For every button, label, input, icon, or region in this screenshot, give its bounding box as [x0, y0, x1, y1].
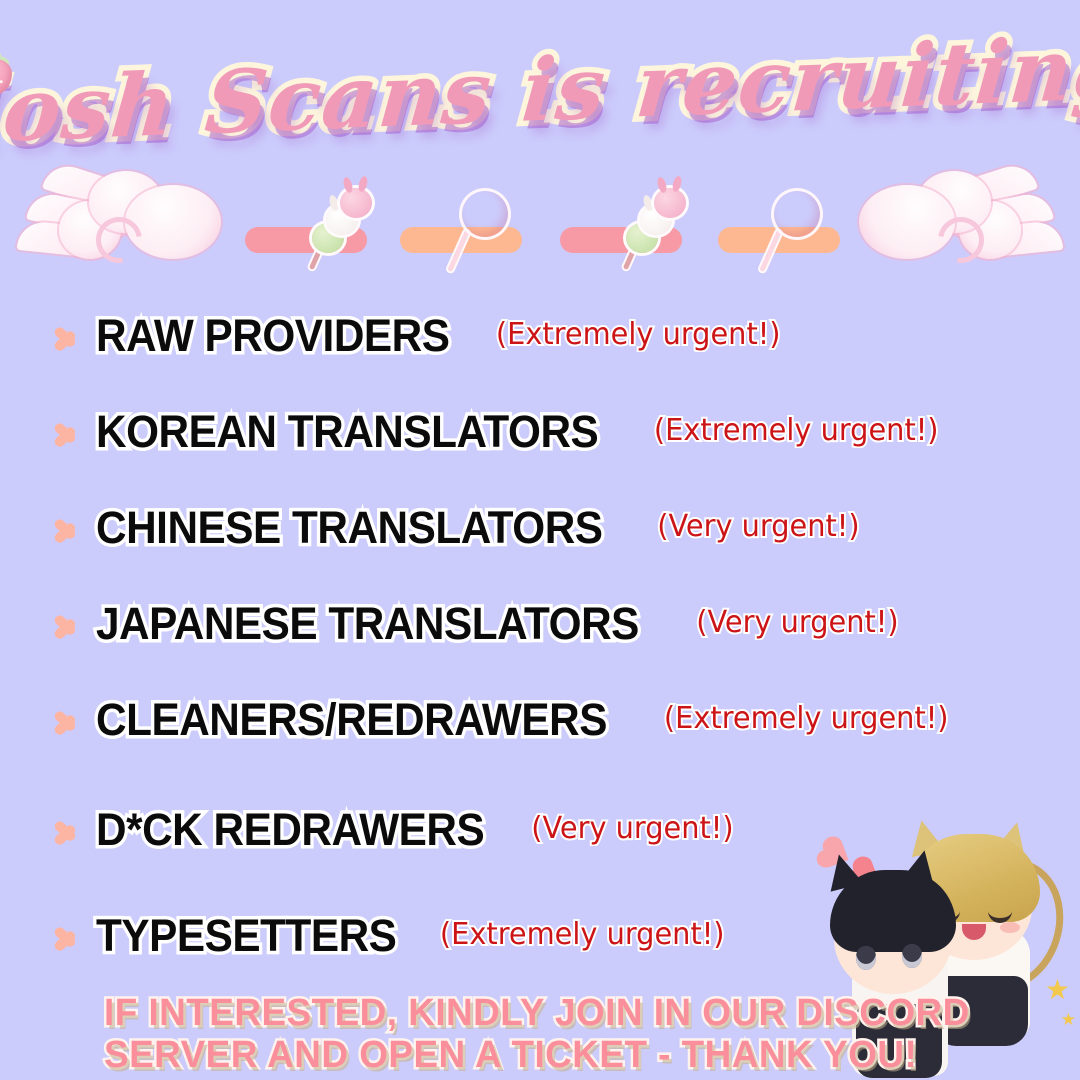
- list-item: JAPANESE TRANSLATORS (Very urgent!): [52, 588, 902, 658]
- title-wrap: Mosh Scans is recruiting!: [0, 24, 1080, 159]
- star-icon: ★: [1061, 1011, 1076, 1028]
- footer-line-1: IF INTERESTED, KINDLY JOIN IN OUR DISCOR…: [104, 992, 870, 1034]
- decorative-divider: [0, 165, 1080, 280]
- status-badge: (Extremely urgent!): [440, 920, 725, 950]
- list-item: TYPESETTERS (Extremely urgent!): [52, 900, 730, 970]
- role-name: CHINESE TRANSLATORS: [96, 505, 603, 550]
- list-item: CHINESE TRANSLATORS (Very urgent!): [52, 492, 864, 562]
- list-item: D*CK REDRAWERS (Very urgent!): [52, 794, 738, 864]
- status-badge: (Extremely urgent!): [496, 320, 781, 350]
- dango-skewer-icon: [298, 183, 388, 273]
- chevron-right-icon: [52, 505, 82, 549]
- role-name: CLEANERS/REDRAWERS: [96, 697, 607, 742]
- chevron-right-icon: [52, 697, 82, 741]
- role-name: KOREAN TRANSLATORS: [96, 409, 598, 454]
- chevron-right-icon: [52, 601, 82, 645]
- winged-cloud-right-icon: [855, 167, 1070, 275]
- chevron-right-icon: [52, 409, 82, 453]
- strawberry-icon: [0, 42, 17, 98]
- dark-character-eye: [856, 946, 876, 970]
- role-name: D*CK REDRAWERS: [96, 807, 484, 852]
- status-badge: (Very urgent!): [696, 608, 898, 638]
- status-badge: (Very urgent!): [531, 814, 733, 844]
- chevron-right-icon: [52, 913, 82, 957]
- dango-skewer-icon: [612, 183, 702, 273]
- list-item: CLEANERS/REDRAWERS (Extremely urgent!): [52, 684, 954, 754]
- header: Mosh Scans is recruiting!: [0, 26, 1080, 156]
- status-badge: (Extremely urgent!): [663, 704, 948, 734]
- chevron-right-icon: [52, 807, 82, 851]
- role-name: RAW PROVIDERS: [96, 313, 449, 358]
- lollipop-icon: [440, 185, 526, 273]
- winged-cloud-left-icon: [10, 167, 225, 275]
- star-icon: ★: [1045, 976, 1070, 1004]
- recruitment-poster: Mosh Scans is recruiting!: [0, 0, 1080, 1080]
- status-badge: (Extremely urgent!): [654, 416, 939, 446]
- footer-call-to-action: IF INTERESTED, KINDLY JOIN IN OUR DISCOR…: [104, 992, 894, 1076]
- chevron-right-icon: [52, 313, 82, 357]
- blonde-character-blush: [1000, 922, 1020, 933]
- role-name: TYPESETTERS: [96, 913, 396, 958]
- page-title: Mosh Scans is recruiting!: [0, 24, 1080, 159]
- list-item: KOREAN TRANSLATORS (Extremely urgent!): [52, 396, 945, 466]
- footer-line-2: SERVER AND OPEN A TICKET - THANK YOU!: [104, 1034, 870, 1076]
- lollipop-icon: [752, 185, 838, 273]
- list-item: RAW PROVIDERS (Extremely urgent!): [52, 300, 787, 370]
- dark-character-eye: [902, 944, 922, 968]
- role-name: JAPANESE TRANSLATORS: [96, 601, 639, 646]
- status-badge: (Very urgent!): [657, 512, 859, 542]
